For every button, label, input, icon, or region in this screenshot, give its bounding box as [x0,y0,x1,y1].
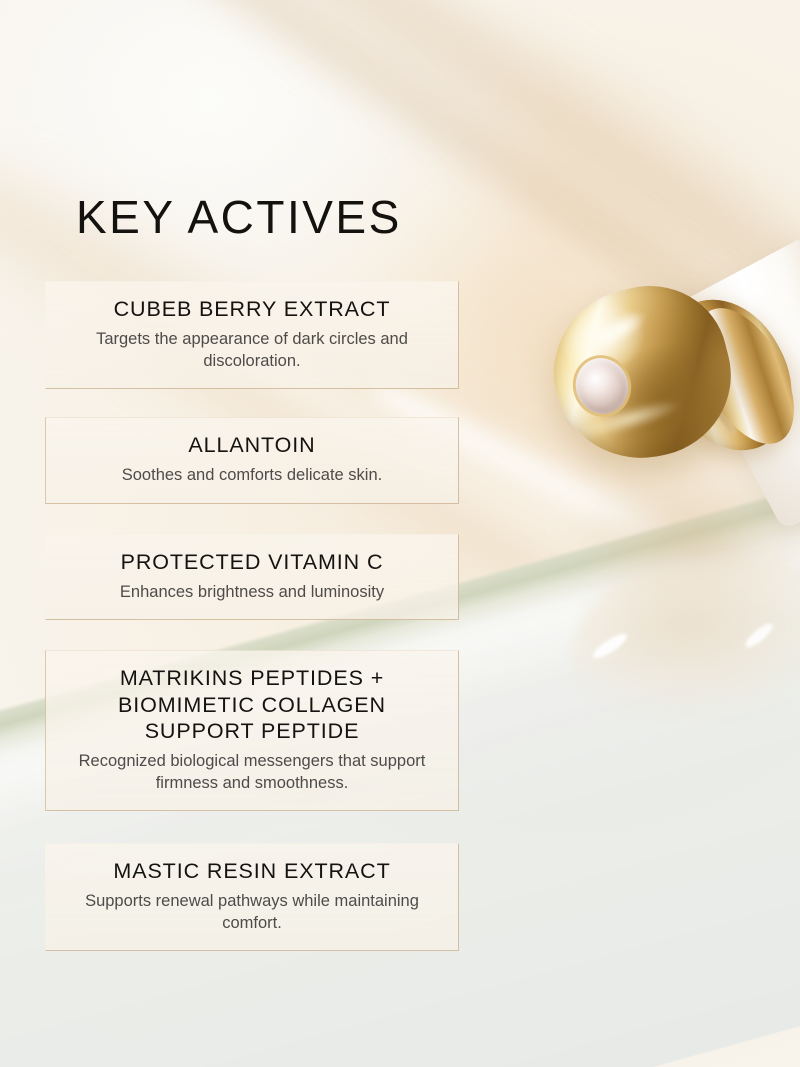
key-active-title: MASTIC RESIN EXTRACT [72,858,432,884]
key-active-title: MATRIKINS PEPTIDES + BIOMIMETIC COLLAGEN… [72,665,432,744]
key-active-card[interactable]: ALLANTOIN Soothes and comforts delicate … [45,417,459,504]
key-active-title: PROTECTED VITAMIN C [72,549,432,575]
key-active-description: Targets the appearance of dark circles a… [72,329,432,372]
card-spacer [45,620,459,650]
key-actives-page: KEY ACTIVES CUBEB BERRY EXTRACT Targets … [0,0,800,1067]
card-spacer [45,811,459,843]
key-active-title: ALLANTOIN [72,432,432,458]
content-layer: KEY ACTIVES CUBEB BERRY EXTRACT Targets … [0,0,800,1067]
key-active-card[interactable]: CUBEB BERRY EXTRACT Targets the appearan… [45,281,459,389]
card-spacer [45,504,459,534]
key-active-card[interactable]: MATRIKINS PEPTIDES + BIOMIMETIC COLLAGEN… [45,650,459,811]
key-active-title: CUBEB BERRY EXTRACT [72,296,432,322]
key-active-description: Supports renewal pathways while maintain… [72,891,432,934]
key-active-description: Enhances brightness and luminosity [72,582,432,603]
key-active-description: Soothes and comforts delicate skin. [72,465,432,486]
key-active-description: Recognized biological messengers that su… [72,751,432,794]
page-title: KEY ACTIVES [76,190,402,244]
key-active-card[interactable]: PROTECTED VITAMIN C Enhances brightness … [45,534,459,621]
key-active-card[interactable]: MASTIC RESIN EXTRACT Supports renewal pa… [45,843,459,951]
key-actives-card-list: CUBEB BERRY EXTRACT Targets the appearan… [45,281,459,951]
card-spacer [45,389,459,417]
